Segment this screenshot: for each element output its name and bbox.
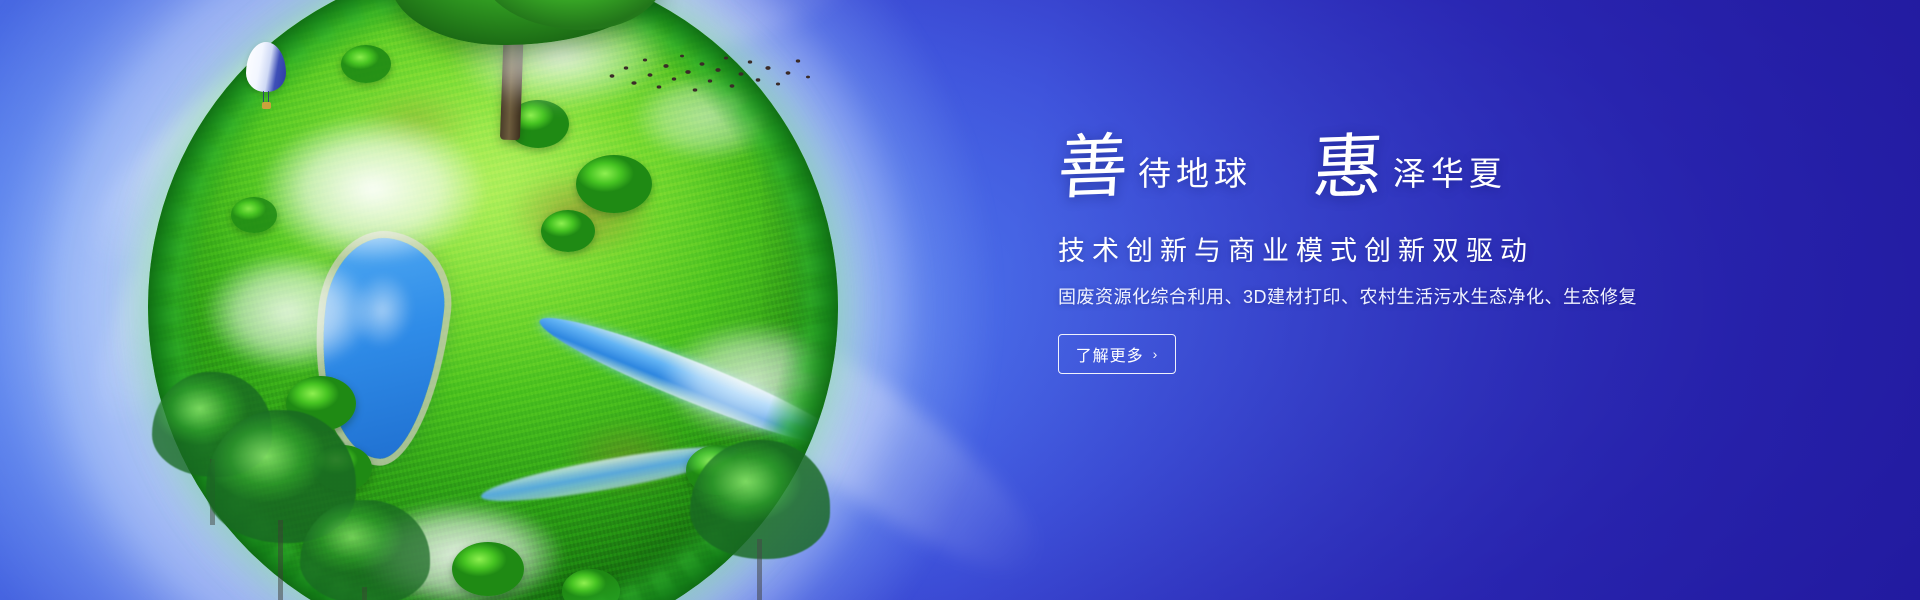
side-tree <box>300 500 430 600</box>
headline: 善 待地球 惠 泽华夏 <box>1058 132 1718 218</box>
tree-trunk <box>757 539 762 600</box>
headline-large-char-2: 惠 <box>1311 131 1385 203</box>
headline-small-chars-1: 待地球 <box>1138 147 1252 195</box>
balloon-basket <box>262 102 271 109</box>
tree-canopy <box>300 500 430 600</box>
hero-banner: 善 待地球 惠 泽华夏 技术创新与商业模式创新双驱动 固废资源化综合利用、3D建… <box>0 0 1920 600</box>
headline-phrase-1: 善 待地球 <box>1058 132 1252 202</box>
tree-trunk <box>362 587 367 600</box>
headline-phrase-2: 惠 泽华夏 <box>1313 132 1507 202</box>
learn-more-label: 了解更多 <box>1076 342 1144 366</box>
hot-air-balloon <box>246 42 290 116</box>
headline-small-chars-2: 泽华夏 <box>1393 147 1507 195</box>
subtitle: 技术创新与商业模式创新双驱动 <box>1058 234 1718 269</box>
banner-content: 善 待地球 惠 泽华夏 技术创新与商业模式创新双驱动 固废资源化综合利用、3D建… <box>1058 132 1718 374</box>
chevron-right-icon: › <box>1153 347 1159 361</box>
description: 固废资源化综合利用、3D建材打印、农村生活污水生态净化、生态修复 <box>1058 285 1718 310</box>
learn-more-button[interactable]: 了解更多 › <box>1058 334 1176 374</box>
headline-large-char-1: 善 <box>1056 131 1130 203</box>
flock-of-birds <box>598 46 818 98</box>
side-tree <box>690 440 830 600</box>
tree-trunk <box>278 520 283 600</box>
balloon-envelope <box>246 42 286 92</box>
